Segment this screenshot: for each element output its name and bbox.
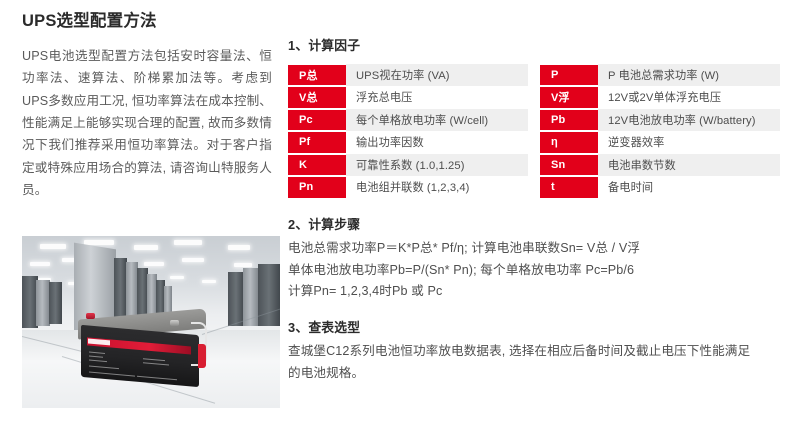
steps-formula-line: 电池总需求功率P＝K*P总* Pf/η; 计算电池串联数Sn= V总 / V浮 xyxy=(288,238,780,260)
lookup-description: 查城堡C12系列电池恒功率放电数据表, 选择在相应后备时间及截止电压下性能满足的… xyxy=(288,341,758,384)
factor-table-right: P P 电池总需求功率 (W) V浮 12V或2V单体浮充电压 Pb 12V电池… xyxy=(540,64,780,199)
section-factors-heading: 1、计算因子 xyxy=(288,38,780,55)
factor-desc: 备电时间 xyxy=(598,176,780,199)
battery-product xyxy=(78,314,208,384)
factor-key: η xyxy=(540,132,598,153)
factor-desc: 12V电池放电功率 (W/battery) xyxy=(598,109,780,132)
section-lookup: 3、查表选型 查城堡C12系列电池恒功率放电数据表, 选择在相应后备时间及截止电… xyxy=(288,320,780,385)
table-row: P总 UPS视在功率 (VA) xyxy=(288,64,528,87)
factor-key: Pn xyxy=(288,177,346,198)
section-factors: 1、计算因子 P总 UPS视在功率 (VA) V总 浮充总电压 Pc 每个单格放… xyxy=(288,38,780,199)
product-photo xyxy=(22,236,280,408)
factor-tables: P总 UPS视在功率 (VA) V总 浮充总电压 Pc 每个单格放电功率 (W/… xyxy=(288,64,780,199)
factor-key: t xyxy=(540,177,598,198)
factor-key: Pf xyxy=(288,132,346,153)
ups-sizing-infographic: UPS选型配置方法 UPS电池选型配置方法包括安时容量法、恒功率法、速算法、阶梯… xyxy=(0,0,800,429)
factor-key: Pc xyxy=(288,110,346,131)
steps-formula-list: 电池总需求功率P＝K*P总* Pf/η; 计算电池串联数Sn= V总 / V浮 … xyxy=(288,238,780,303)
data-center-scene xyxy=(22,236,280,408)
factor-desc: 电池串数节数 xyxy=(598,154,780,177)
steps-formula-line: 单体电池放电功率Pb=P/(Sn* Pn); 每个单格放电功率 Pc=Pb/6 xyxy=(288,260,780,282)
factor-key: Pb xyxy=(540,110,598,131)
table-row: V浮 12V或2V单体浮充电压 xyxy=(540,86,780,109)
factor-desc: 每个单格放电功率 (W/cell) xyxy=(346,109,528,132)
factor-key: P xyxy=(540,65,598,86)
factor-key: V总 xyxy=(288,87,346,108)
factor-table-left: P总 UPS视在功率 (VA) V总 浮充总电压 Pc 每个单格放电功率 (W/… xyxy=(288,64,528,199)
factor-desc: 逆变器效率 xyxy=(598,131,780,154)
factor-key: Sn xyxy=(540,155,598,176)
table-row: Sn 电池串数节数 xyxy=(540,154,780,177)
steps-formula-line: 计算Pn= 1,2,3,4时Pb 或 Pc xyxy=(288,281,780,303)
table-row: V总 浮充总电压 xyxy=(288,86,528,109)
table-row: t 备电时间 xyxy=(540,176,780,199)
table-row: Pf 输出功率因数 xyxy=(288,131,528,154)
factor-key: K xyxy=(288,155,346,176)
factor-desc: 电池组并联数 (1,2,3,4) xyxy=(346,176,528,199)
section-steps-heading: 2、计算步骤 xyxy=(288,217,780,234)
table-row: Pn 电池组并联数 (1,2,3,4) xyxy=(288,176,528,199)
factor-desc: 浮充总电压 xyxy=(346,86,528,109)
factor-desc: UPS视在功率 (VA) xyxy=(346,64,528,87)
table-row: K 可靠性系数 (1.0,1.25) xyxy=(288,154,528,177)
factor-desc: 输出功率因数 xyxy=(346,131,528,154)
section-steps: 2、计算步骤 电池总需求功率P＝K*P总* Pf/η; 计算电池串联数Sn= V… xyxy=(288,217,780,303)
factor-desc: 可靠性系数 (1.0,1.25) xyxy=(346,154,528,177)
page-title: UPS选型配置方法 xyxy=(22,12,272,32)
table-row: η 逆变器效率 xyxy=(540,131,780,154)
right-column: 1、计算因子 P总 UPS视在功率 (VA) V总 浮充总电压 Pc 每个单格放… xyxy=(288,38,780,384)
table-row: P P 电池总需求功率 (W) xyxy=(540,64,780,87)
table-row: Pb 12V电池放电功率 (W/battery) xyxy=(540,109,780,132)
factor-desc: 12V或2V单体浮充电压 xyxy=(598,86,780,109)
intro-paragraph: UPS电池选型配置方法包括安时容量法、恒功率法、速算法、阶梯累加法等。考虑到UP… xyxy=(22,45,272,202)
table-row: Pc 每个单格放电功率 (W/cell) xyxy=(288,109,528,132)
factor-key: V浮 xyxy=(540,87,598,108)
section-lookup-heading: 3、查表选型 xyxy=(288,320,780,337)
left-column: UPS选型配置方法 UPS电池选型配置方法包括安时容量法、恒功率法、速算法、阶梯… xyxy=(22,12,272,202)
factor-desc: P 电池总需求功率 (W) xyxy=(598,64,780,87)
factor-key: P总 xyxy=(288,65,346,86)
